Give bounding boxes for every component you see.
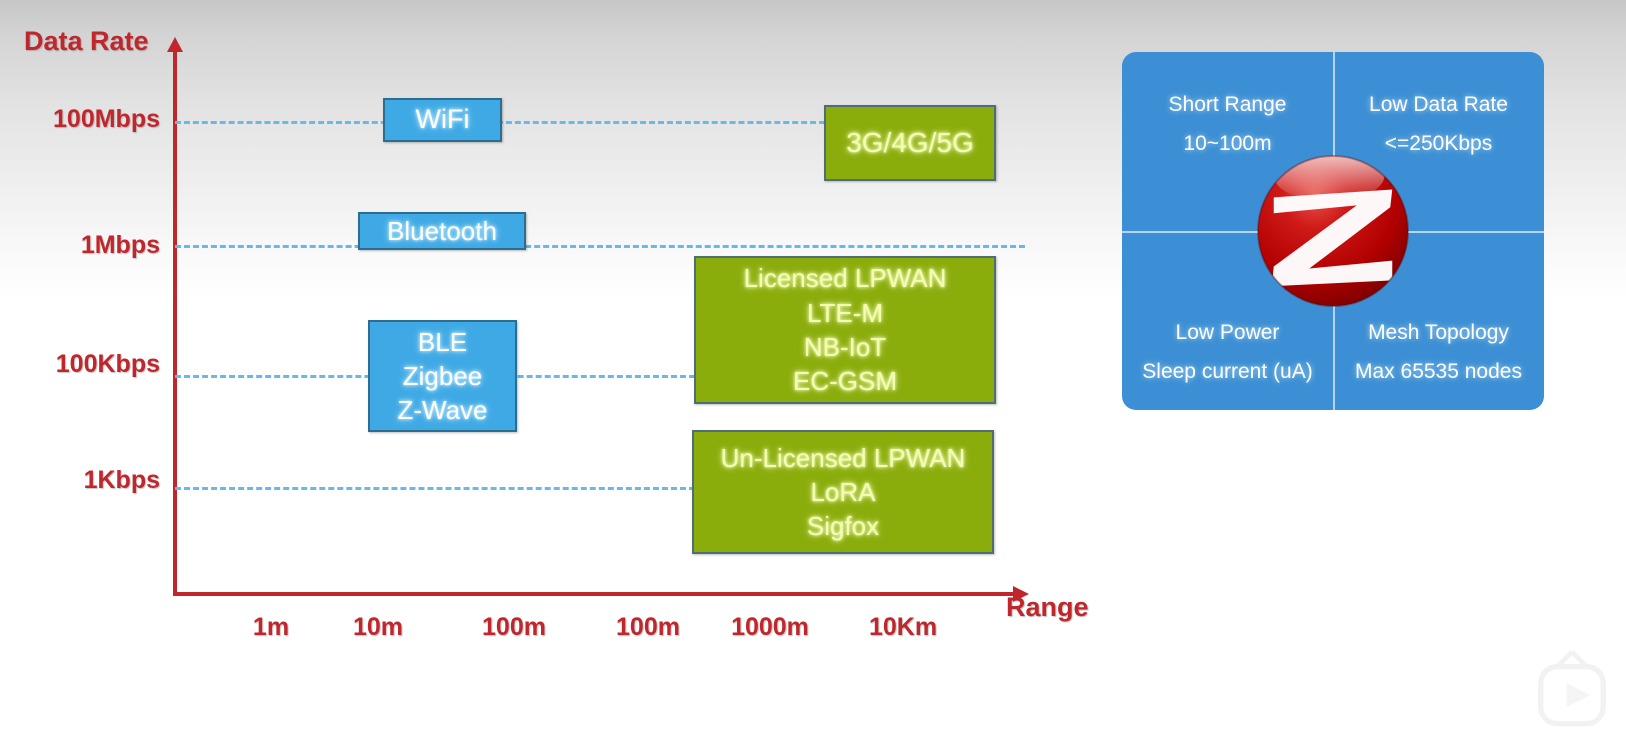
y-axis-line [173,50,177,596]
x-tick-label-5: 1000m [708,613,832,642]
short-range-line-3: Z-Wave [397,393,487,427]
y-tick-label-100kbps: 100Kbps [0,350,160,379]
x-axis-title: Range [1006,592,1089,623]
tech-box-unlicensed-lpwan[interactable]: Un-Licensed LPWAN LoRA Sigfox [692,430,994,554]
x-axis-line [173,592,1015,596]
short-range-line-1: BLE [418,325,467,359]
licensed-lpwan-line-4: EC-GSM [793,364,897,398]
quadrant-detail-low-power: Sleep current (uA) [1142,353,1312,392]
licensed-lpwan-line-2: LTE-M [807,296,883,330]
quadrant-title-short-range: Short Range [1169,86,1287,125]
x-tick-label-2: 10m [318,613,438,642]
gridline-1kbps [175,487,695,490]
unlicensed-lpwan-line-1: Un-Licensed LPWAN [721,441,966,475]
x-tick-label-1: 1m [211,613,331,642]
tech-box-short-range[interactable]: BLE Zigbee Z-Wave [368,320,517,432]
x-tick-label-6: 10Km [843,613,963,642]
quadrant-title-low-data-rate: Low Data Rate [1369,86,1508,125]
tech-box-cellular[interactable]: 3G/4G/5G [824,105,996,181]
zigbee-logo-icon [1254,152,1412,310]
unlicensed-lpwan-line-2: LoRA [810,475,875,509]
y-tick-label-1kbps: 1Kbps [0,466,160,495]
x-tick-label-3: 100m [452,613,576,642]
quadrant-detail-mesh-topology: Max 65535 nodes [1355,353,1522,392]
slide-canvas: Data Rate Range 100Mbps 1Mbps 100Kbps 1K… [0,0,1626,735]
y-axis-title: Data Rate [24,26,149,57]
tech-box-wifi-label: WiFi [416,102,470,138]
unlicensed-lpwan-line-3: Sigfox [807,509,879,543]
tech-box-wifi[interactable]: WiFi [383,98,502,142]
video-player-watermark-icon [1524,639,1620,731]
quadrant-title-mesh-topology: Mesh Topology [1368,314,1509,353]
y-tick-label-1mbps: 1Mbps [0,231,160,260]
tech-box-licensed-lpwan[interactable]: Licensed LPWAN LTE-M NB-IoT EC-GSM [694,256,996,404]
tech-box-cellular-label: 3G/4G/5G [846,125,974,162]
licensed-lpwan-line-1: Licensed LPWAN [744,261,947,295]
licensed-lpwan-line-3: NB-IoT [804,330,886,364]
y-tick-label-100mbps: 100Mbps [0,105,160,134]
quadrant-title-low-power: Low Power [1176,314,1280,353]
zigbee-feature-panel: Short Range 10~100m Low Data Rate <=250K… [1122,52,1544,410]
tech-box-bluetooth[interactable]: Bluetooth [358,212,526,250]
tech-box-bluetooth-label: Bluetooth [387,214,497,248]
gridline-1mbps [175,245,1025,248]
short-range-line-2: Zigbee [403,359,483,393]
x-tick-label-4: 100m [588,613,708,642]
